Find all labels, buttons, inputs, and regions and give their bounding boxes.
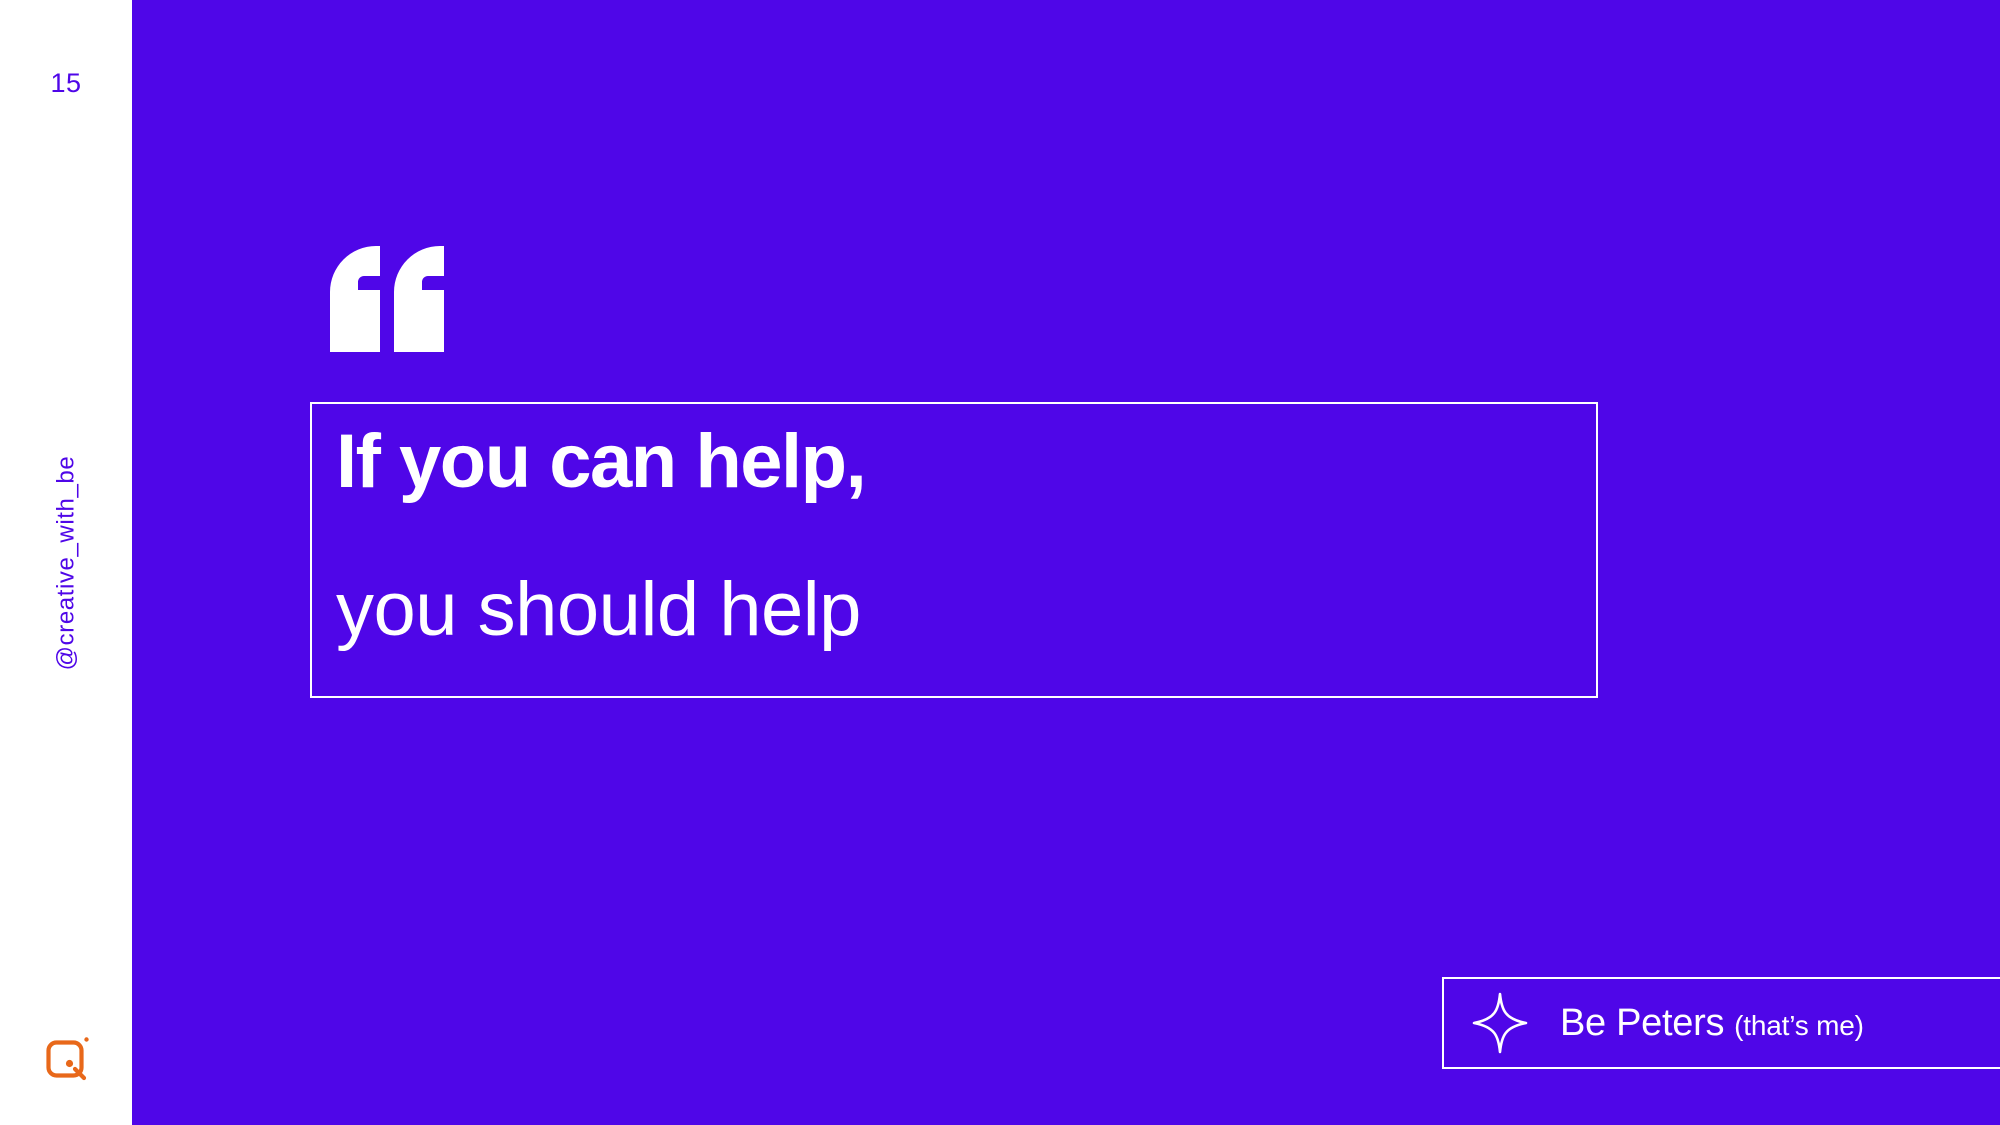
speaker-badge[interactable]: Be Peters (that’s me) — [1442, 977, 2000, 1069]
speaker-text: Be Peters (that’s me) — [1560, 1002, 1864, 1045]
rounded-square-magnifier-logo-icon — [45, 1035, 93, 1087]
handle-container: @creative_with_be — [0, 0, 132, 1125]
quote-frame: If you can help, you should help — [310, 402, 1598, 698]
social-handle[interactable]: @creative_with_be — [52, 455, 80, 670]
speaker-name: Be Peters — [1560, 1002, 1724, 1045]
slide-canvas: If you can help, you should help Be Pete… — [0, 0, 2000, 1125]
main-content-area: If you can help, you should help Be Pete… — [132, 0, 2000, 1125]
quote-line-2: you should help — [336, 572, 861, 648]
four-point-sparkle-icon — [1472, 992, 1528, 1054]
page-number: 15 — [0, 68, 132, 99]
quote-line-1: If you can help, — [336, 424, 865, 500]
open-quote-icon — [328, 244, 448, 354]
left-rail: 15 @creative_with_be — [0, 0, 132, 1125]
speaker-aside: (that’s me) — [1734, 1010, 1864, 1042]
